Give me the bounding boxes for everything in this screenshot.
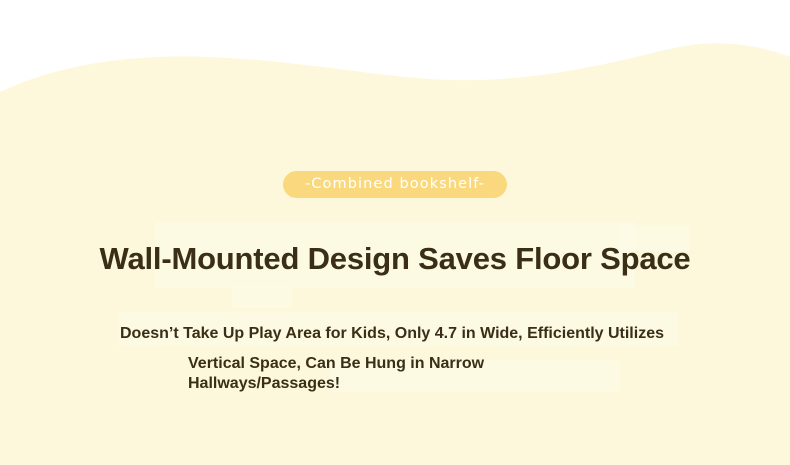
body-line-1: Doesn’t Take Up Play Area for Kids, Only… [120,324,720,344]
body-line-2: Vertical Space, Can Be Hung in Narrow [120,354,720,374]
headline: Wall-Mounted Design Saves Floor Space [0,240,790,278]
banner-content: -Combined bookshelf- Wall-Mounted Design… [0,0,790,465]
body-copy: Doesn’t Take Up Play Area for Kids, Only… [120,324,720,394]
category-badge: -Combined bookshelf- [283,171,507,198]
promo-banner: -Combined bookshelf- Wall-Mounted Design… [0,0,790,465]
badge-row: -Combined bookshelf- [0,171,790,198]
body-line-3: Hallways/Passages! [120,374,720,394]
